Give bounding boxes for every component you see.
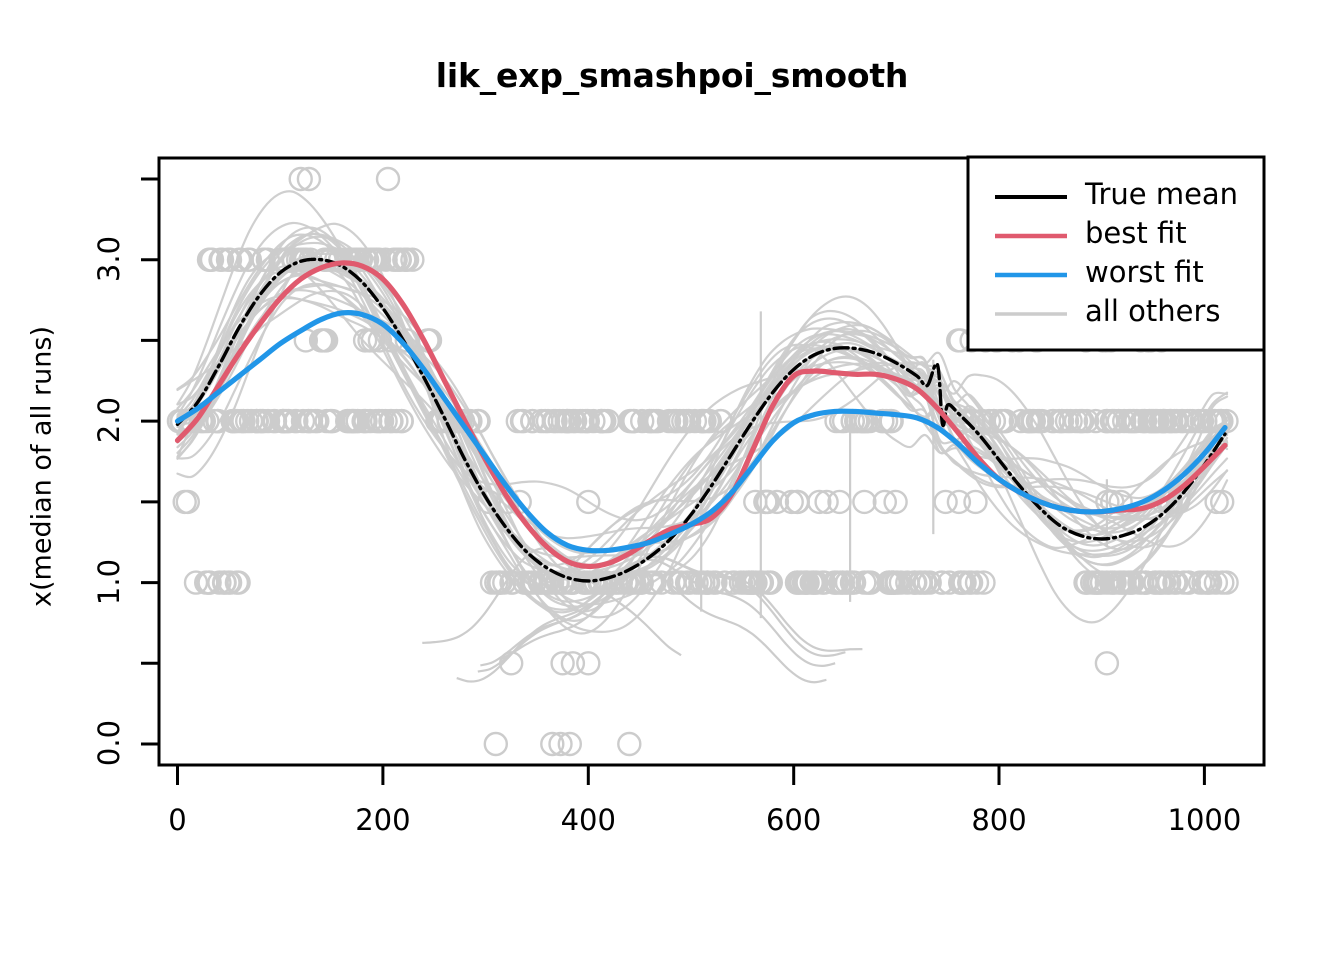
x-tick-label: 1000 xyxy=(1134,803,1274,837)
x-tick-label: 0 xyxy=(107,803,247,837)
y-tick-label: 0.0 xyxy=(92,703,126,783)
x-tick-label: 800 xyxy=(929,803,1069,837)
y-tick-label: 1.0 xyxy=(92,542,126,622)
x-tick-label: 600 xyxy=(724,803,864,837)
chart-root: lik_exp_smashpoi_smooth x(median of all … xyxy=(0,0,1344,960)
legend-label-worst-fit: worst fit xyxy=(1085,255,1204,289)
legend-label-all-others: all others xyxy=(1085,294,1220,328)
y-tick-label: 2.0 xyxy=(92,380,126,460)
x-tick-label: 400 xyxy=(518,803,658,837)
legend-label-best-fit: best fit xyxy=(1085,216,1187,250)
legend-label-true-mean: True mean xyxy=(1085,177,1238,211)
y-tick-label: 3.0 xyxy=(92,219,126,299)
x-tick-label: 200 xyxy=(313,803,453,837)
